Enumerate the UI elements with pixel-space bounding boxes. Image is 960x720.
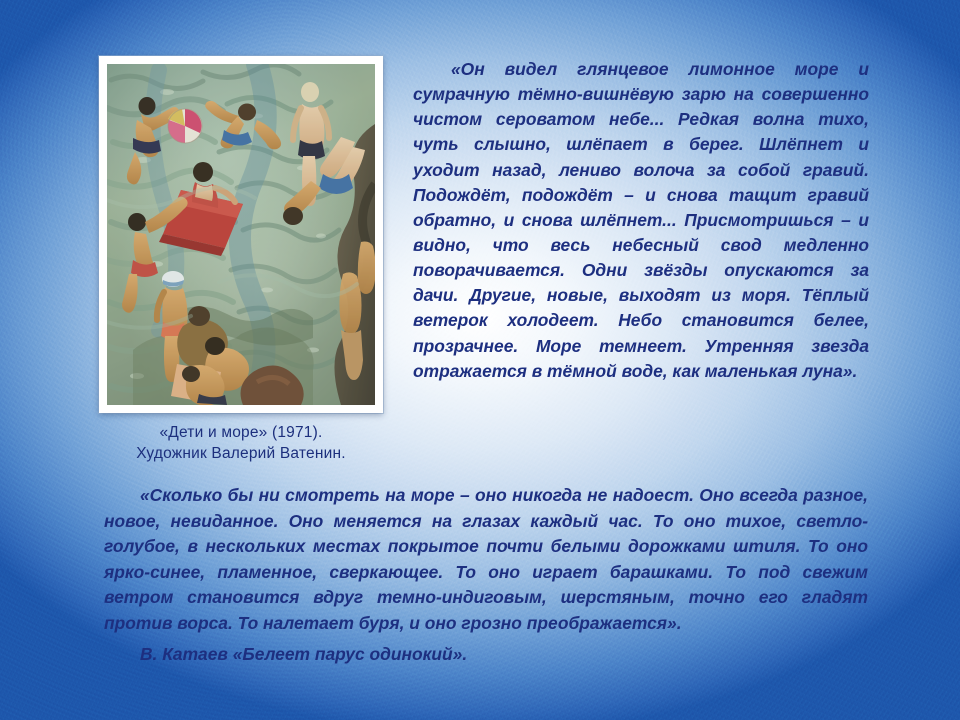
painting-block: «Дети и море» (1971). Художник Валерий В… bbox=[99, 56, 383, 465]
painting-frame bbox=[99, 56, 383, 413]
caption-title-year: «Дети и море» (1971). bbox=[159, 424, 322, 441]
quote-attribution: В. Катаев «Белеет парус одинокий». bbox=[104, 644, 868, 665]
caption-artist: Художник Валерий Ватенин. bbox=[99, 443, 383, 464]
children-and-sea-artwork bbox=[107, 64, 375, 405]
painting-canvas bbox=[107, 64, 375, 405]
slide-canvas: «Дети и море» (1971). Художник Валерий В… bbox=[0, 0, 960, 720]
quote-right-text: «Он видел глянцевое лимонное море и сумр… bbox=[413, 57, 869, 384]
painting-caption: «Дети и море» (1971). Художник Валерий В… bbox=[99, 422, 383, 465]
quote-bottom-text: «Сколько бы ни смотреть на море – оно ни… bbox=[104, 483, 868, 636]
